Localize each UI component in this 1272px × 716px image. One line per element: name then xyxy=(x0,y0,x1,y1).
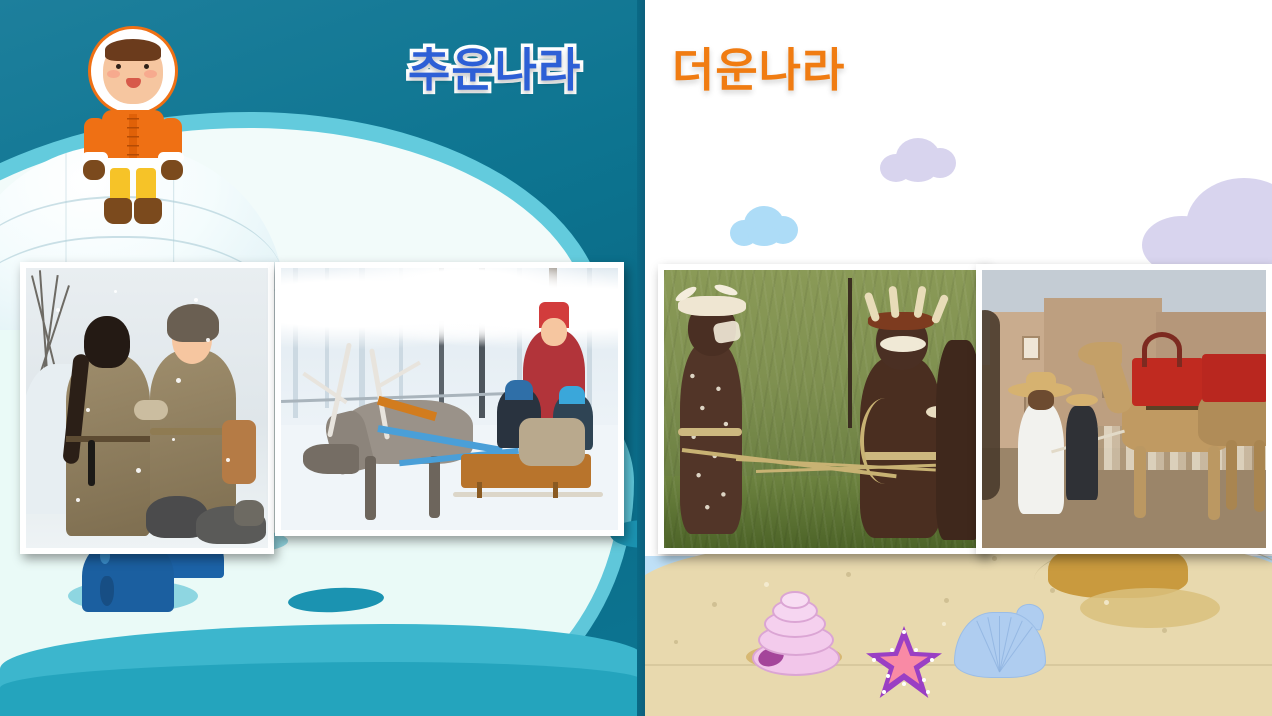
eye-right xyxy=(144,64,149,69)
reindeer-head xyxy=(303,444,359,474)
boot-left xyxy=(104,198,132,224)
joined-hands xyxy=(134,400,168,420)
starfish-dot xyxy=(872,658,876,662)
snowflake xyxy=(76,498,80,502)
sled-runner xyxy=(453,492,603,497)
mitten-left xyxy=(83,160,105,180)
sand-speck xyxy=(1050,588,1055,593)
snowflake xyxy=(114,290,117,293)
cloud-lavender-large xyxy=(1142,178,1272,274)
cloud-lavender-small xyxy=(880,138,956,182)
panel-title-cold: 추운나라 xyxy=(408,34,581,100)
cold-country-panel: 추운나라 xyxy=(0,0,644,716)
sand-speck xyxy=(712,602,717,607)
starfish-dot xyxy=(902,630,906,634)
bow-curve xyxy=(860,398,910,484)
photo-reindeer-sled[interactable] xyxy=(275,262,624,536)
building-window xyxy=(1022,336,1040,360)
camel-back-leg xyxy=(1226,440,1237,510)
snowflake xyxy=(172,438,175,441)
snowflake xyxy=(136,468,141,473)
person-right-headscarf xyxy=(167,304,219,342)
sand-speck xyxy=(992,556,997,561)
photo-tribal-hunters[interactable] xyxy=(658,264,988,554)
man-face xyxy=(1028,390,1054,410)
hot-country-panel: 더운나라 xyxy=(644,0,1272,716)
cheek-right xyxy=(144,70,157,78)
starfish-dot xyxy=(882,690,886,694)
sand-speck xyxy=(764,582,769,587)
panel-title-hot: 더운나라 xyxy=(672,34,845,100)
upright-spear xyxy=(848,278,852,428)
snowflake xyxy=(86,408,90,412)
igloo-door-hole xyxy=(100,576,114,606)
person-left-hair xyxy=(84,316,130,368)
boot-right xyxy=(134,198,162,224)
child-hat-cyan xyxy=(559,386,585,404)
camel-back-leg xyxy=(1254,440,1265,512)
parka-lace xyxy=(127,118,139,156)
starfish-dot xyxy=(922,678,926,682)
snowflake xyxy=(176,378,181,383)
panel-divider xyxy=(637,0,645,716)
slide-stage: 추운나라 xyxy=(0,0,1272,716)
sand-speck xyxy=(1104,600,1109,605)
reindeer-leg xyxy=(365,456,376,520)
feather-headdress-left xyxy=(678,296,746,316)
sled-support xyxy=(553,482,558,498)
man-dark-hat xyxy=(1066,394,1098,406)
man-dark-robe xyxy=(1066,406,1098,500)
reindeer-leg xyxy=(429,456,440,518)
sand-speck xyxy=(674,640,678,644)
starfish-dot xyxy=(890,648,894,652)
sand-speck xyxy=(1162,628,1167,633)
starfish-dot xyxy=(914,648,918,652)
clam-shell xyxy=(954,604,1044,676)
camel-front-leg xyxy=(1208,446,1220,520)
photo-nomad-women-snow[interactable] xyxy=(20,262,274,554)
person-left-belt xyxy=(66,436,150,442)
sand-mound xyxy=(1080,588,1220,628)
hat-crown xyxy=(1026,372,1056,386)
tusk-nose-ornament xyxy=(880,336,926,352)
mitten-right xyxy=(161,160,183,180)
starfish-dot xyxy=(902,682,906,686)
sand-speck xyxy=(942,622,946,626)
sand-speck xyxy=(944,598,949,603)
spiral-shell xyxy=(752,590,836,672)
man-white-robe xyxy=(1018,402,1064,514)
dog-head xyxy=(234,500,264,526)
starfish xyxy=(866,626,942,698)
sea-deep xyxy=(0,662,644,716)
snowflake xyxy=(206,338,210,342)
body-paint-dots-left xyxy=(680,360,742,520)
saddle-horn xyxy=(1142,332,1182,367)
cheek-left xyxy=(107,70,120,78)
horse-dark-left xyxy=(982,310,1000,500)
camel-saddle-red-back xyxy=(1202,354,1266,402)
reindeer-hide-blanket xyxy=(519,418,585,466)
sand-speck xyxy=(846,572,851,577)
snowflake xyxy=(226,458,230,462)
driver-face xyxy=(541,318,567,346)
photo-camels-desert-town[interactable] xyxy=(976,264,1272,554)
camel-front-leg xyxy=(1134,446,1146,518)
parka-hem-fur xyxy=(100,158,166,170)
sidebag xyxy=(222,420,256,484)
sled-support xyxy=(477,482,482,498)
eskimo-boy-mascot xyxy=(78,26,188,226)
camel-front-head xyxy=(1078,342,1122,366)
hair xyxy=(105,39,161,61)
starfish-dot xyxy=(926,690,930,694)
starfish-dot xyxy=(886,674,890,678)
person-left-knife xyxy=(88,440,95,486)
snowflake xyxy=(56,308,60,312)
cloud-blue-small xyxy=(730,206,798,246)
snowflake xyxy=(194,298,198,302)
eye-left xyxy=(116,64,121,69)
shell-ring xyxy=(780,591,810,609)
starfish-dot xyxy=(930,658,934,662)
child-hat-blue xyxy=(505,380,533,400)
waist-cord-left xyxy=(678,428,742,436)
